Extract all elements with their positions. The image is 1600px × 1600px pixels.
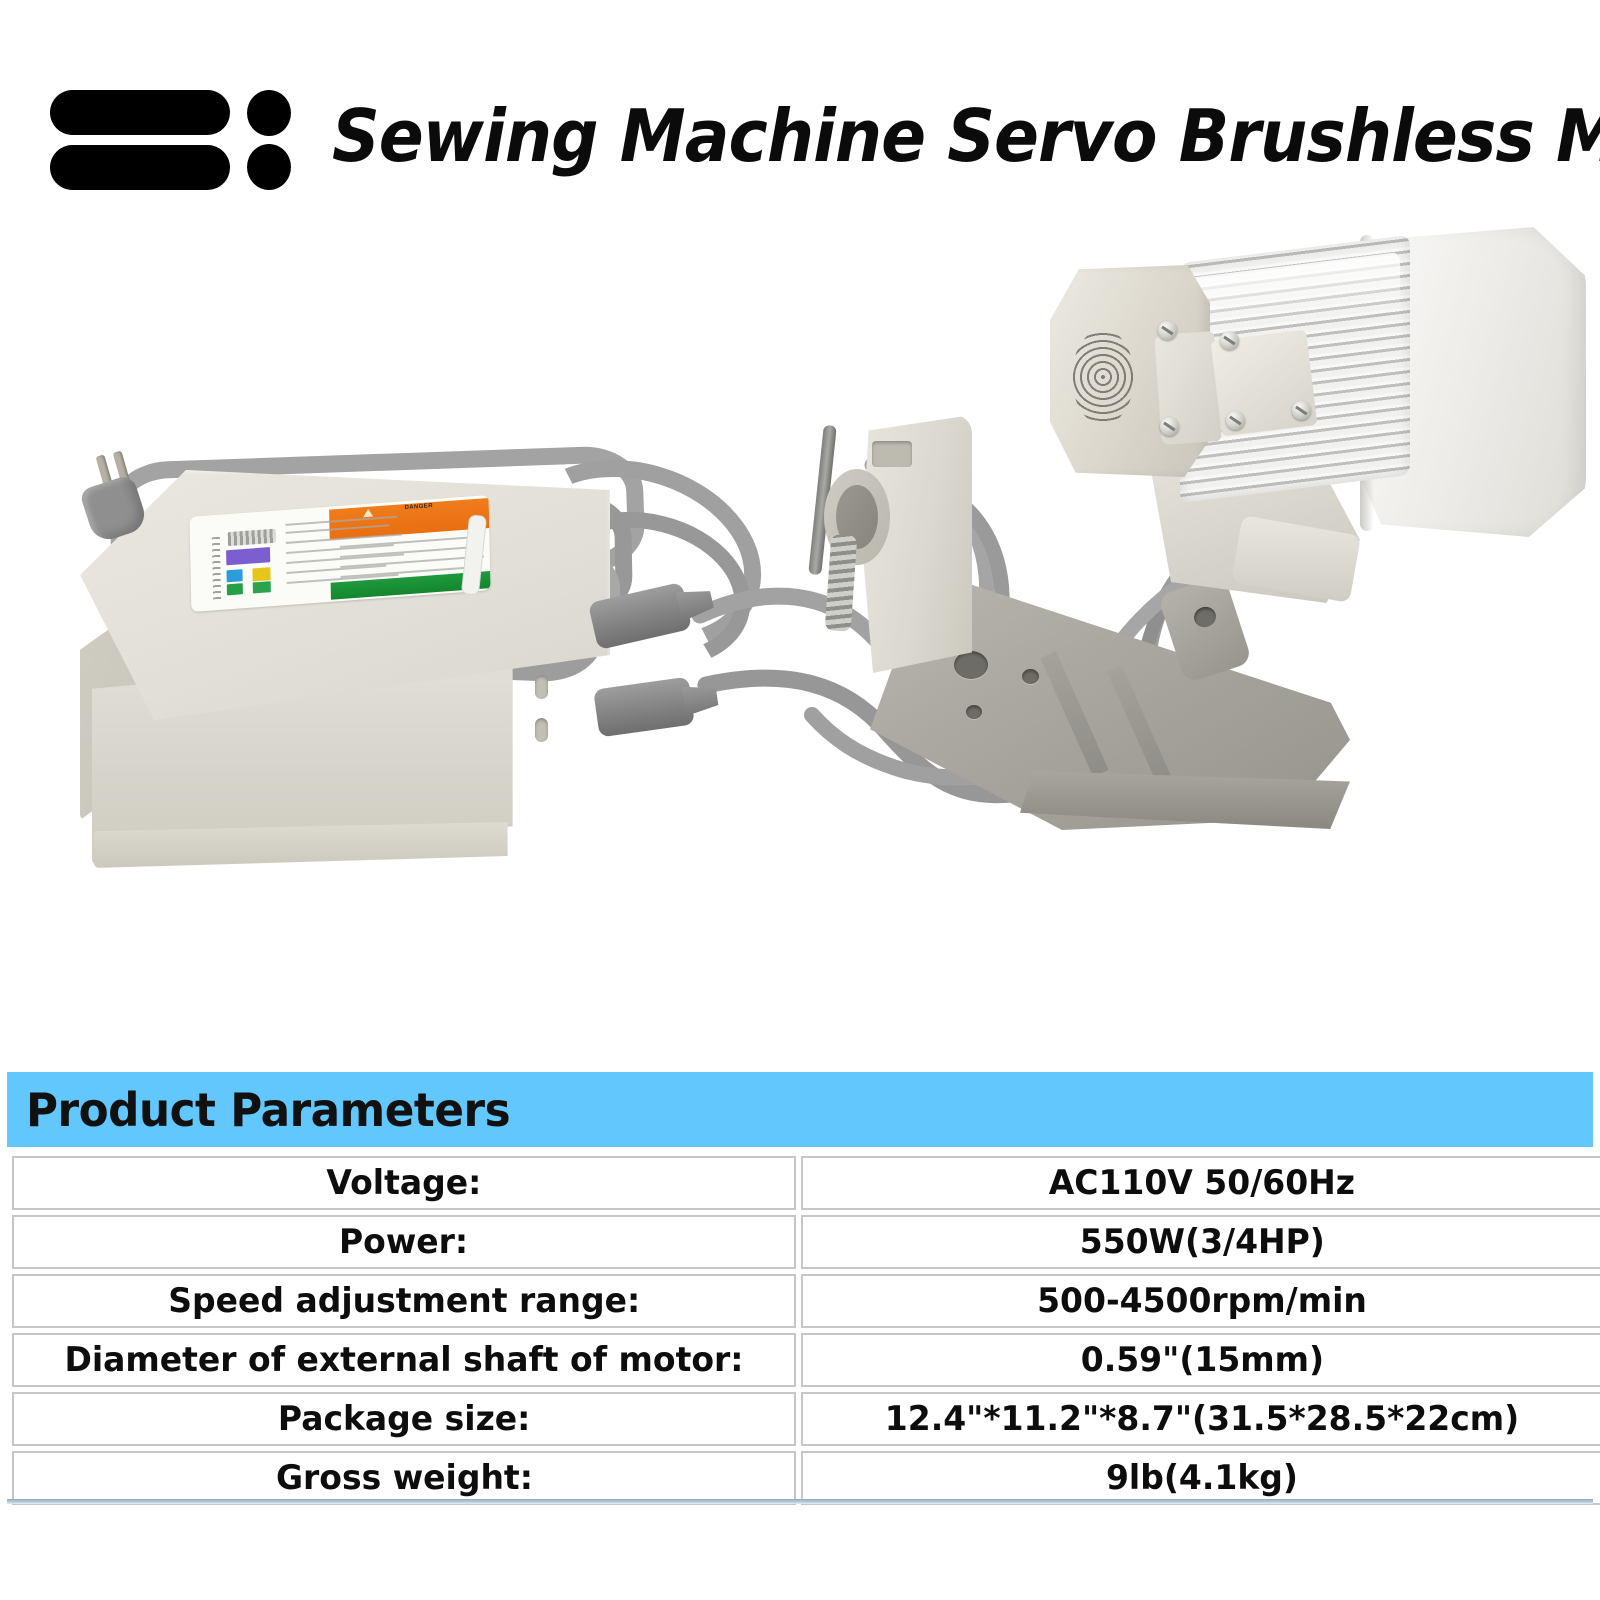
- param-label-cell: Voltage:: [12, 1156, 796, 1210]
- param-label: Package size:: [278, 1399, 530, 1439]
- table-row: Gross weight: 9lb(4.1kg): [12, 1451, 1600, 1505]
- motor-screw: [1292, 401, 1311, 420]
- product-parameters-header: Product Parameters: [7, 1072, 1593, 1147]
- table-row: Voltage: AC110V 50/60Hz: [12, 1156, 1600, 1210]
- return-spring: [825, 534, 858, 632]
- label-color-chip: [226, 547, 270, 565]
- param-value-cell: 12.4"*11.2"*8.7"(31.5*28.5*22cm): [801, 1392, 1600, 1446]
- product-parameters-table: Voltage: AC110V 50/60Hz Power: 550W(3/4H…: [7, 1151, 1600, 1510]
- param-value: 500-4500rpm/min: [1037, 1281, 1367, 1321]
- product-parameters-section: Product Parameters Voltage: AC110V 50/60…: [0, 1060, 1600, 1520]
- param-label-cell: Speed adjustment range:: [12, 1274, 796, 1328]
- pedal-sensor-unit: [812, 415, 1002, 675]
- control-box-vent: [535, 675, 548, 699]
- table-row: Power: 550W(3/4HP): [12, 1215, 1600, 1269]
- motor-vent-icon: [1072, 329, 1134, 425]
- param-value: 0.59"(15mm): [1080, 1340, 1323, 1380]
- two-prong-plug-icon: [78, 451, 152, 537]
- param-label-cell: Gross weight:: [12, 1451, 796, 1505]
- param-value-cell: 0.59"(15mm): [801, 1333, 1600, 1387]
- param-value-cell: 550W(3/4HP): [801, 1215, 1600, 1269]
- table-bottom-rule: [7, 1499, 1593, 1504]
- motor-screw: [1158, 321, 1177, 340]
- brushless-servo-motor: [1030, 225, 1590, 655]
- motor-screw: [1220, 331, 1239, 350]
- param-value: AC110V 50/60Hz: [1049, 1163, 1355, 1203]
- motor-screw: [1160, 417, 1179, 436]
- label-hardware-graphic: [228, 529, 276, 547]
- label-fineprint-line: [286, 565, 386, 574]
- pedal-housing-notch: [872, 441, 912, 467]
- param-label-cell: Power:: [12, 1215, 796, 1269]
- warning-triangle-icon: [363, 508, 373, 517]
- param-label: Gross weight:: [276, 1458, 533, 1498]
- param-label: Voltage:: [327, 1163, 482, 1203]
- page-header: Sewing Machine Servo Brushless Motor: [0, 0, 1600, 215]
- table-row: Package size: 12.4"*11.2"*8.7"(31.5*28.5…: [12, 1392, 1600, 1446]
- param-value: 9lb(4.1kg): [1106, 1458, 1298, 1498]
- param-value-cell: 500-4500rpm/min: [801, 1274, 1600, 1328]
- motor-screw: [1226, 411, 1245, 430]
- table-row: Speed adjustment range: 500-4500rpm/min: [12, 1274, 1600, 1328]
- control-box-vent: [535, 718, 548, 742]
- param-label: Speed adjustment range:: [168, 1281, 640, 1321]
- bracket-mounting-hole: [1022, 669, 1039, 684]
- product-parameters-heading: Product Parameters: [26, 1083, 510, 1137]
- label-color-chip: [226, 569, 242, 582]
- logo-dot-bottom: [247, 144, 291, 190]
- control-box: DANGER: [80, 470, 610, 900]
- label-color-chip: [227, 583, 243, 595]
- label-side-stripe: [212, 537, 221, 600]
- param-value-cell: 9lb(4.1kg): [801, 1451, 1600, 1505]
- param-value: 550W(3/4HP): [1079, 1222, 1324, 1262]
- product-photo: DANGER: [0, 215, 1600, 1060]
- param-label: Power:: [339, 1222, 468, 1262]
- label-color-chip: [252, 567, 270, 581]
- plug-body: [79, 474, 150, 545]
- bracket-mounting-hole: [966, 705, 982, 719]
- param-label-cell: Diameter of external shaft of motor:: [12, 1333, 796, 1387]
- page-title: Sewing Machine Servo Brushless Motor: [332, 90, 1436, 182]
- table-row: Diameter of external shaft of motor: 0.5…: [12, 1333, 1600, 1387]
- logo-dot-top: [247, 90, 291, 136]
- equals-colon-logo-icon: [50, 88, 280, 188]
- label-color-chip: [253, 581, 271, 593]
- param-label: Diameter of external shaft of motor:: [65, 1340, 744, 1380]
- param-value-cell: AC110V 50/60Hz: [801, 1156, 1600, 1210]
- logo-bar-bottom: [50, 145, 230, 190]
- logo-bar-top: [50, 90, 230, 135]
- param-value: 12.4"*11.2"*8.7"(31.5*28.5*22cm): [885, 1399, 1519, 1439]
- param-label-cell: Package size:: [12, 1392, 796, 1446]
